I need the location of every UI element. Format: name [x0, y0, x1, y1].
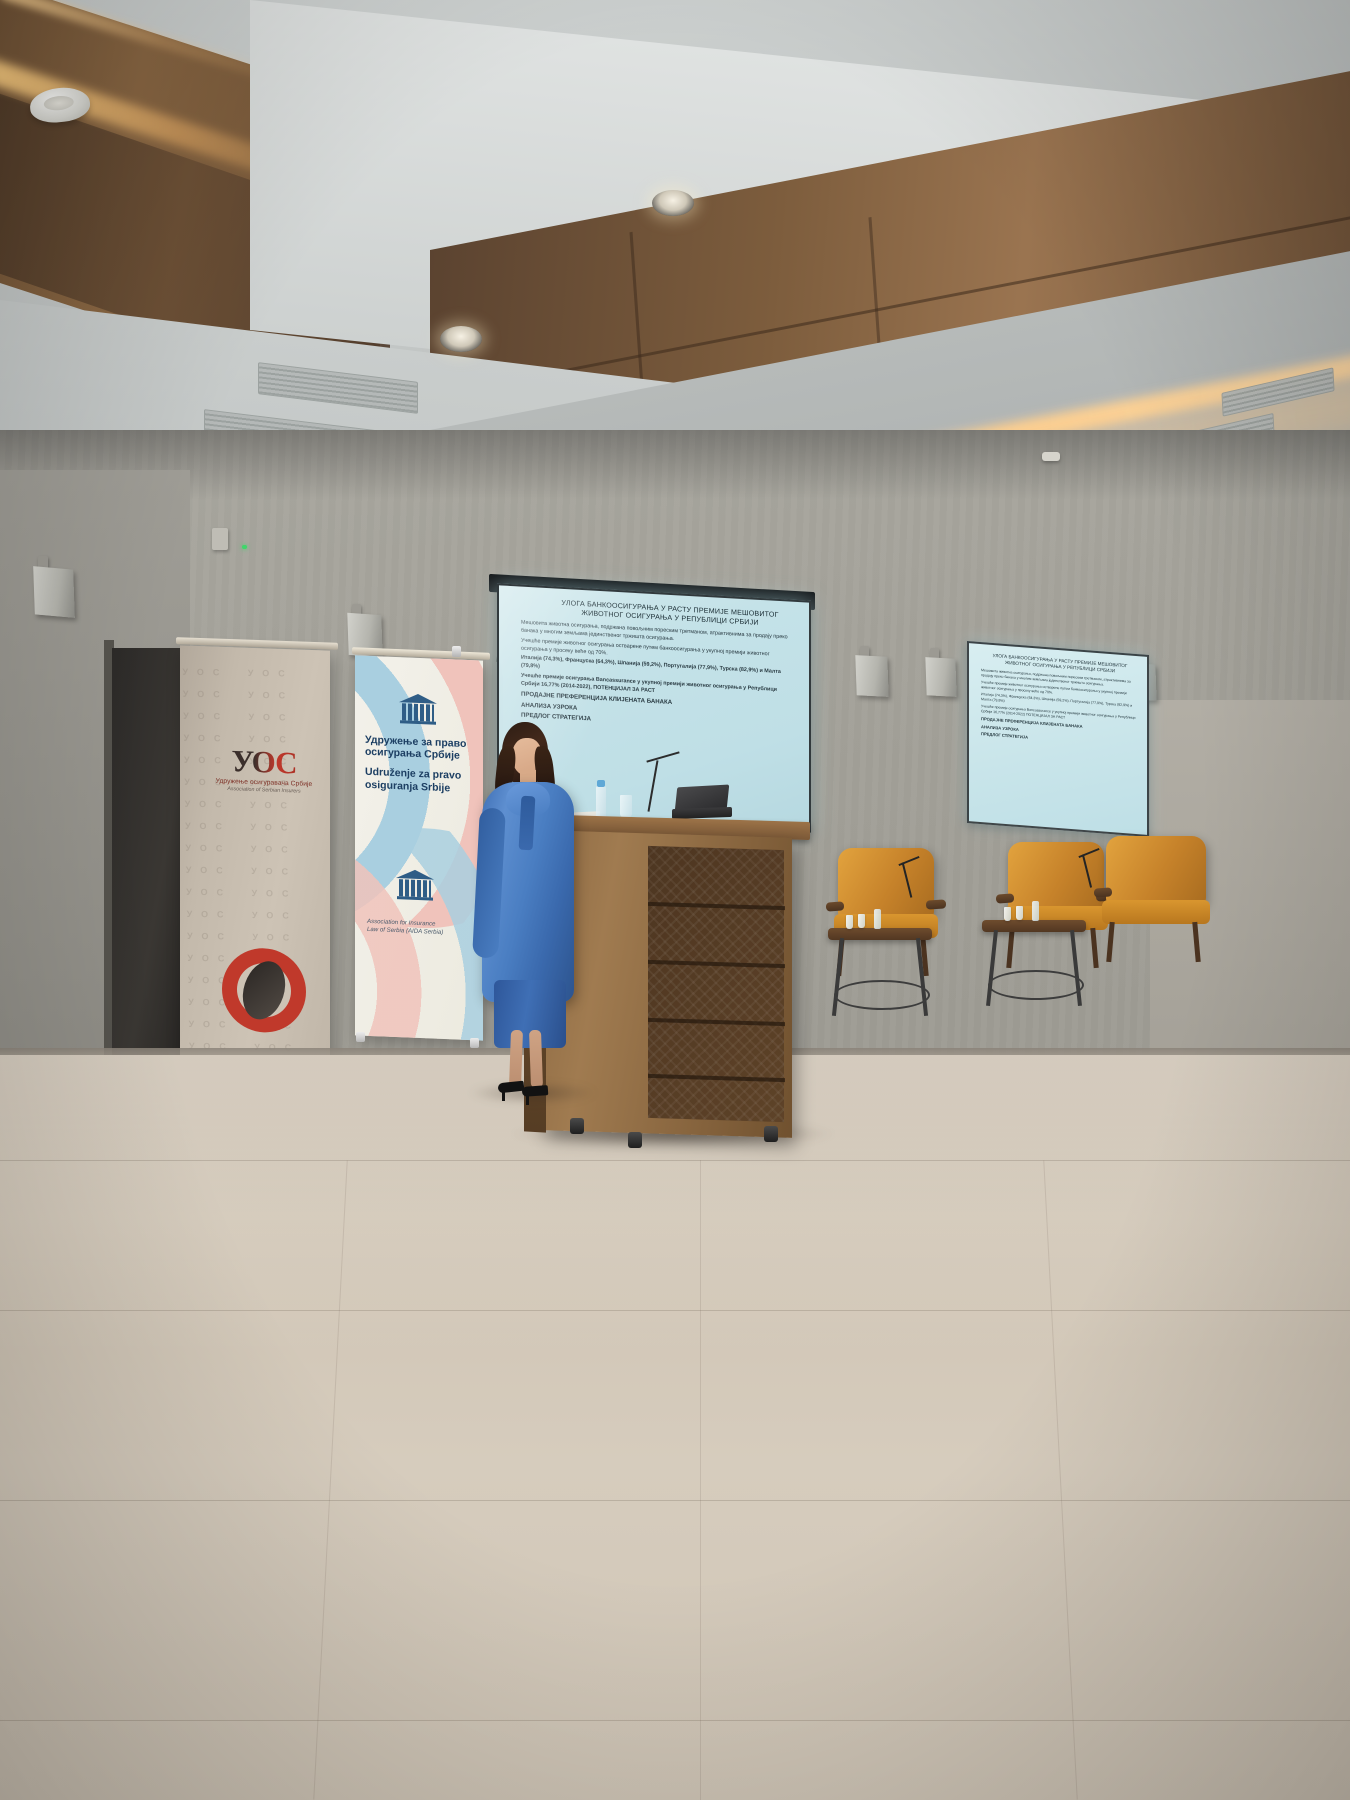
presenter: [470, 700, 590, 1100]
armchair-2-arm-left: [996, 893, 1015, 903]
presenter-leg-left: [509, 1030, 523, 1088]
aida-banner-foot-1: [356, 1032, 365, 1042]
armchair-3-leg-2: [1192, 922, 1200, 962]
uos-watermark-pattern: УОС УОС УОС УОС УОС УОС УОС УОС УОС УОС …: [180, 647, 330, 1112]
side-table-2-ring: [988, 970, 1084, 1000]
temple-icon-bottom: [393, 869, 437, 905]
floor-tile-vline-2: [700, 1160, 701, 1800]
lectern-caster-1: [570, 1118, 584, 1134]
wall-speaker-4: [925, 657, 956, 697]
side-table-1-glass-2: [858, 914, 865, 928]
armchair-3-arm-left: [1094, 887, 1113, 897]
temple-roof-icon-2: [396, 869, 434, 880]
floor-tile-line-4: [0, 1720, 1350, 1721]
temple-roof-icon: [399, 693, 437, 704]
uos-rollup-banner: УОС УОС УОС УОС УОС УОС УОС УОС УОС УОС …: [180, 645, 330, 1112]
side-table-2-glass-2: [1016, 906, 1023, 920]
side-table-1-bottle: [874, 909, 881, 929]
secondary-slide-body: Мешовита животна осигурања, подржана пов…: [981, 668, 1139, 750]
side-table-1-glass-1: [846, 915, 853, 929]
drinking-glass: [620, 795, 632, 817]
aida-banner-hook: [452, 646, 461, 657]
floor-tile-line-3: [0, 1500, 1350, 1501]
lectern-caster-3: [628, 1132, 642, 1148]
side-table-2[interactable]: [982, 910, 1086, 1020]
ceiling-downlight-1: [652, 190, 694, 216]
uos-logo-text: УОС: [214, 745, 314, 779]
door[interactable]: [112, 648, 186, 1093]
aida-text-lat: Udruženje za pravo osiguranja Srbije: [365, 766, 483, 795]
armchair-3-back: [1106, 836, 1206, 906]
wall-mounted-projector-mount: [212, 528, 228, 550]
wall-speaker-3: [855, 655, 888, 697]
wall-speaker-1: [33, 566, 75, 618]
side-table-1-ring: [834, 980, 930, 1010]
floor-tile-line-2: [0, 1310, 1350, 1311]
ceiling-sensor: [1042, 452, 1060, 461]
side-table-2-glass-1: [1004, 907, 1011, 921]
aida-banner-text: Удружење за право осигурања Србије Udruž…: [365, 734, 483, 796]
presenter-heel-right: [526, 1094, 529, 1105]
ceiling-downlight-2: [440, 326, 482, 352]
secondary-slide-content: УЛОГА БАНКООСИГУРАЊА У РАСТУ ПРЕМИЈЕ МЕШ…: [969, 643, 1147, 835]
aida-text-sr: Удружење за право осигурања Србије: [365, 734, 483, 763]
armchair-1-back: [838, 848, 934, 920]
armchair-3[interactable]: [1094, 836, 1220, 1016]
presenter-heel-left: [502, 1090, 505, 1101]
conference-room-photo: УЛОГА БАНКООСИГУРАЊА У РАСТУ ПРЕМИЈЕ МЕШ…: [0, 0, 1350, 1800]
temple-icon-top: [399, 693, 437, 725]
armchair-3-seat: [1102, 900, 1210, 924]
status-led-indicator: [242, 545, 247, 549]
side-table-1-leg-1: [832, 938, 844, 1016]
presenter-leg-right: [529, 1030, 543, 1088]
armchair-3-leg-1: [1106, 922, 1114, 962]
side-table-2-leg-1: [986, 930, 998, 1006]
temple-base-icon-2: [397, 896, 433, 901]
temple-columns-icon-2: [399, 879, 431, 897]
aida-rollup-banner: Удружење за право осигурања Србије Udruž…: [355, 655, 483, 1040]
side-table-1[interactable]: [828, 918, 932, 1028]
armchair-1-arm-right: [926, 899, 947, 909]
temple-columns-icon: [402, 703, 434, 721]
floor-tile-line-1: [0, 1160, 1350, 1161]
water-bottle: [596, 786, 606, 820]
wall-top-shadow: [0, 430, 1350, 500]
water-bottle-cap-icon: [597, 780, 605, 787]
uos-logo: УОС Удружење осигуравача Србије Associat…: [214, 745, 314, 795]
secondary-projection-screen[interactable]: УЛОГА БАНКООСИГУРАЊА У РАСТУ ПРЕМИЈЕ МЕШ…: [967, 641, 1149, 837]
armchair-1-arm-left: [826, 901, 845, 911]
side-table-2-bottle: [1032, 901, 1039, 921]
presenter-lapel: [519, 796, 536, 851]
lectern-caster-2: [764, 1126, 778, 1142]
